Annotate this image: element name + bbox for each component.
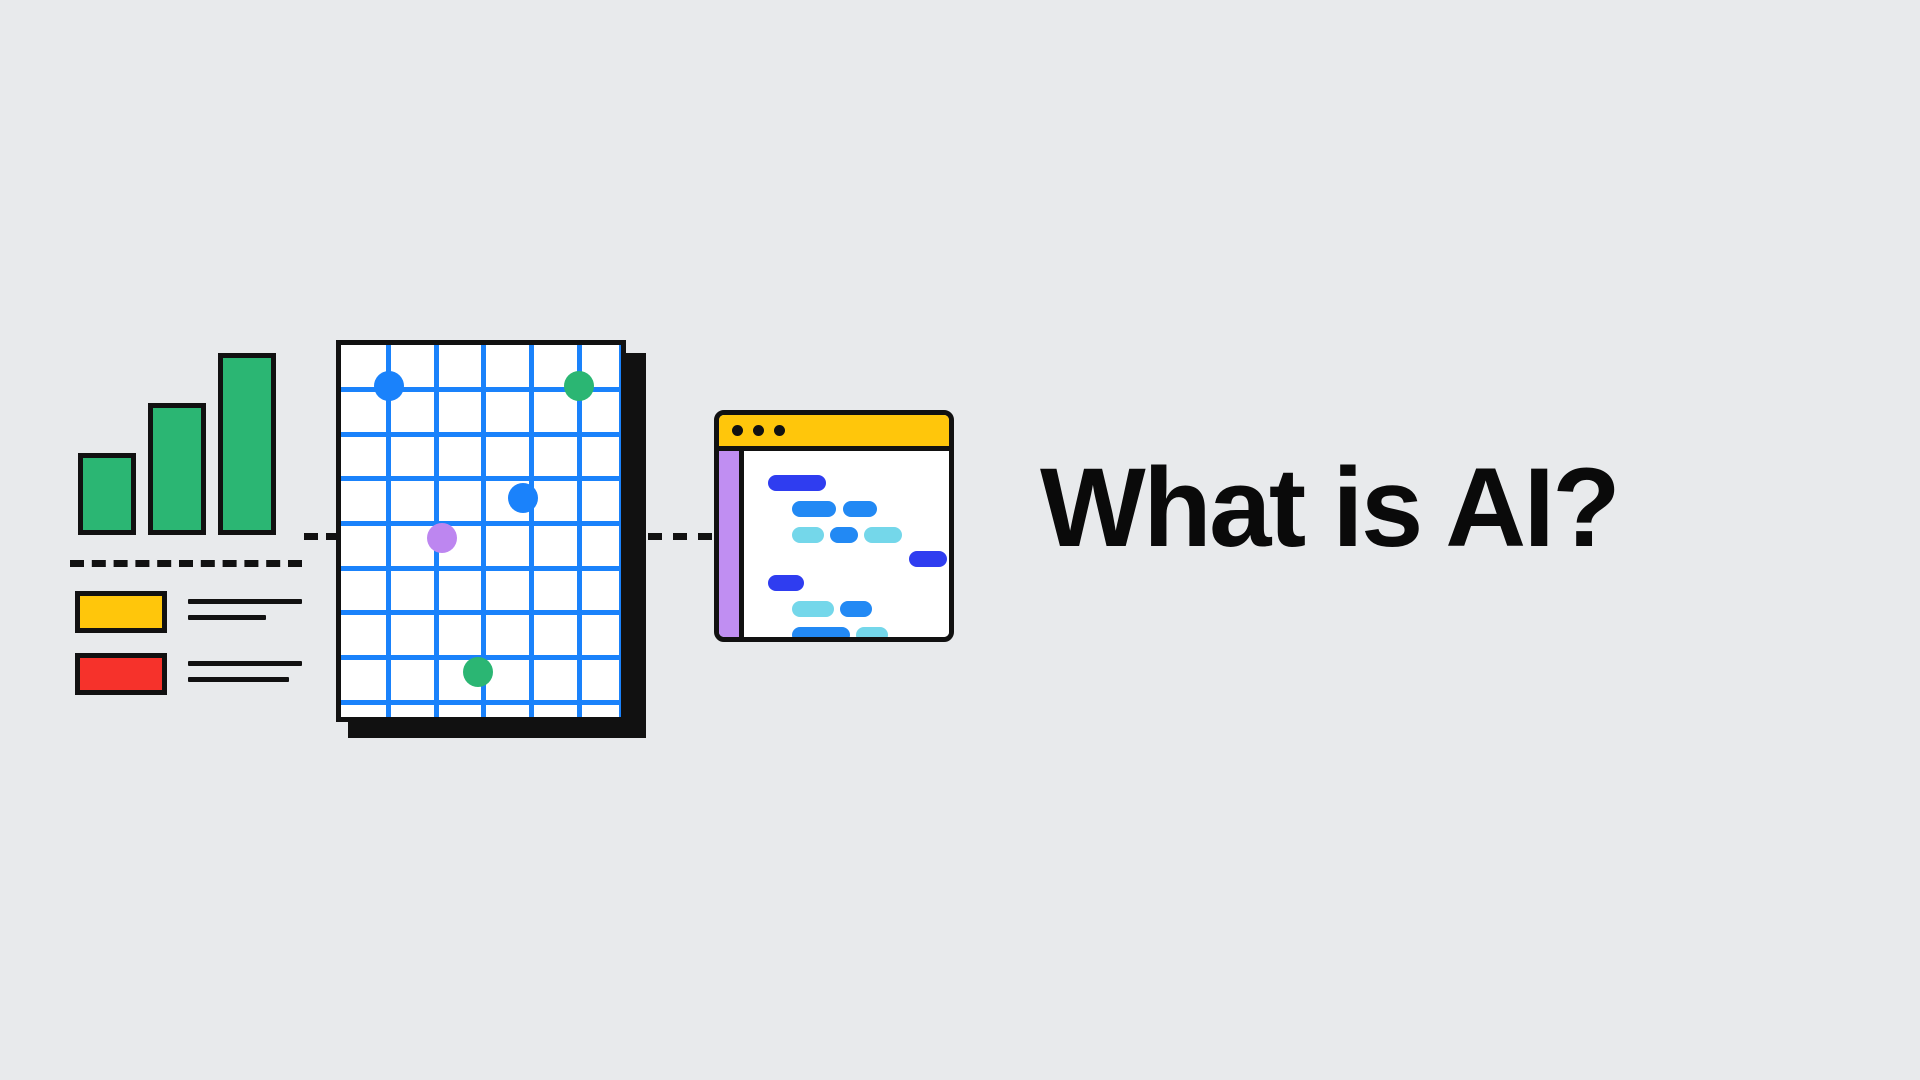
window-titlebar xyxy=(719,415,949,451)
code-token xyxy=(843,501,877,517)
scatter-grid-panel-group xyxy=(336,340,646,740)
gridline-vertical xyxy=(529,345,534,717)
page-title: What is AI? xyxy=(1040,452,1618,564)
code-token xyxy=(856,627,888,642)
connector-bars-to-grid xyxy=(304,533,340,540)
legend-text-placeholder xyxy=(188,661,302,682)
window-close-dot-icon xyxy=(732,425,743,436)
code-token xyxy=(792,601,834,617)
gridline-horizontal xyxy=(341,610,621,615)
scatter-dot xyxy=(564,371,594,401)
legend-line xyxy=(188,661,302,666)
code-token xyxy=(792,627,850,642)
window-maximize-dot-icon xyxy=(774,425,785,436)
legend-line xyxy=(188,599,302,604)
legend-line xyxy=(188,677,289,682)
code-token xyxy=(792,501,836,517)
legend-text-placeholder xyxy=(188,599,302,620)
code-token xyxy=(830,527,858,543)
window-minimize-dot-icon xyxy=(753,425,764,436)
scatter-grid-panel xyxy=(336,340,626,722)
code-token xyxy=(792,527,824,543)
scatter-dot xyxy=(463,657,493,687)
code-editor-window xyxy=(714,410,954,642)
dashed-baseline-divider xyxy=(70,560,302,567)
legend-row xyxy=(70,591,302,633)
illustration-canvas: What is AI? xyxy=(0,0,1920,1080)
gridline-horizontal xyxy=(341,566,621,571)
code-token xyxy=(864,527,902,543)
legend-line xyxy=(188,615,266,620)
code-token xyxy=(768,575,804,591)
scatter-dot xyxy=(508,483,538,513)
code-token xyxy=(840,601,872,617)
code-editor-window-group xyxy=(714,410,954,642)
code-token xyxy=(768,475,826,491)
scatter-dot xyxy=(427,523,457,553)
bar-chart-illustration xyxy=(70,335,300,695)
code-token xyxy=(909,551,947,567)
bar-chart-bar xyxy=(78,453,136,535)
gridline-horizontal xyxy=(341,521,621,526)
connector-grid-to-code xyxy=(648,533,712,540)
gridline-horizontal xyxy=(341,432,621,437)
bar-chart-bar xyxy=(148,403,206,535)
legend-row xyxy=(70,653,302,695)
legend-swatch-yellow xyxy=(75,591,167,633)
scatter-dot xyxy=(374,371,404,401)
legend-swatch-red xyxy=(75,653,167,695)
bar-chart-bar xyxy=(218,353,276,535)
gridline-horizontal xyxy=(341,700,621,705)
gridline-vertical xyxy=(619,345,624,717)
editor-sidebar xyxy=(719,451,744,637)
editor-code-area xyxy=(744,451,949,637)
gridline-horizontal xyxy=(341,476,621,481)
